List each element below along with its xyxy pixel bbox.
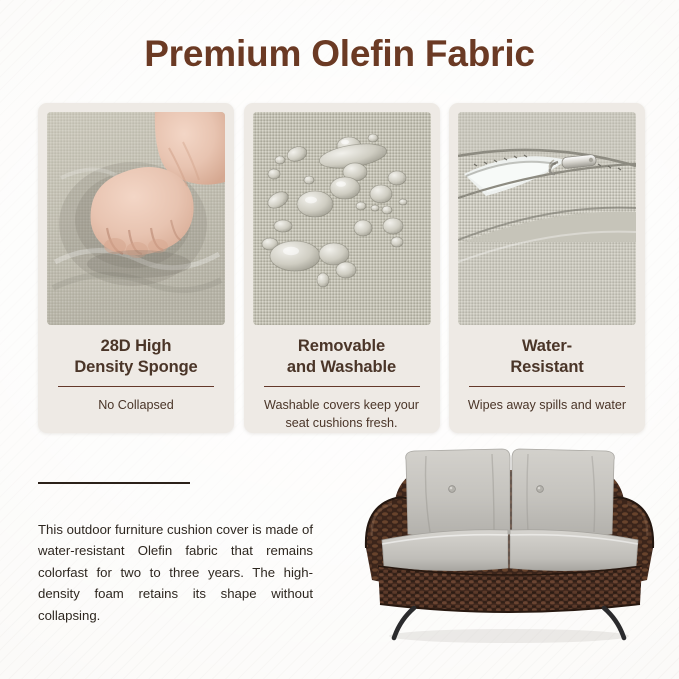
heading-line-1: Water- xyxy=(522,337,572,355)
feature-card-washable-subtext: Washable covers keep your seat cushions … xyxy=(253,397,431,432)
description-text: This outdoor furniture cushion cover is … xyxy=(38,519,313,626)
heading-line-2: and Washable xyxy=(287,358,396,376)
feature-card-water-resistant-heading: Water- Resistant xyxy=(510,336,583,378)
heading-line-2: Resistant xyxy=(510,358,583,376)
feature-card-washable-heading: Removable and Washable xyxy=(287,336,396,378)
feature-card-row: 28D High Density Sponge No Collapsed xyxy=(38,103,645,433)
feature-card-sponge-divider xyxy=(58,386,214,387)
sponge-photo xyxy=(47,112,225,325)
heading-line-2: Density Sponge xyxy=(74,358,197,376)
zipper-photo xyxy=(458,112,636,325)
page-title: Premium Olefin Fabric xyxy=(0,33,679,75)
feature-card-water-resistant-subtext: Wipes away spills and water xyxy=(462,397,632,415)
feature-card-water-resistant: Water- Resistant Wipes away spills and w… xyxy=(449,103,645,433)
heading-line-1: 28D High xyxy=(101,337,172,355)
feature-card-sponge: 28D High Density Sponge No Collapsed xyxy=(38,103,234,433)
heading-line-1: Removable xyxy=(298,337,385,355)
feature-card-water-resistant-divider xyxy=(469,386,625,387)
feature-card-sponge-heading: 28D High Density Sponge xyxy=(74,336,197,378)
infographic-page: Premium Olefin Fabric xyxy=(0,0,679,679)
description-divider xyxy=(38,482,190,484)
feature-card-washable-divider xyxy=(264,386,420,387)
feature-card-sponge-subtext: No Collapsed xyxy=(92,397,180,415)
feature-card-washable: Removable and Washable Washable covers k… xyxy=(244,103,440,433)
water-droplets-photo xyxy=(253,112,431,325)
product-loveseat-image xyxy=(352,440,667,652)
